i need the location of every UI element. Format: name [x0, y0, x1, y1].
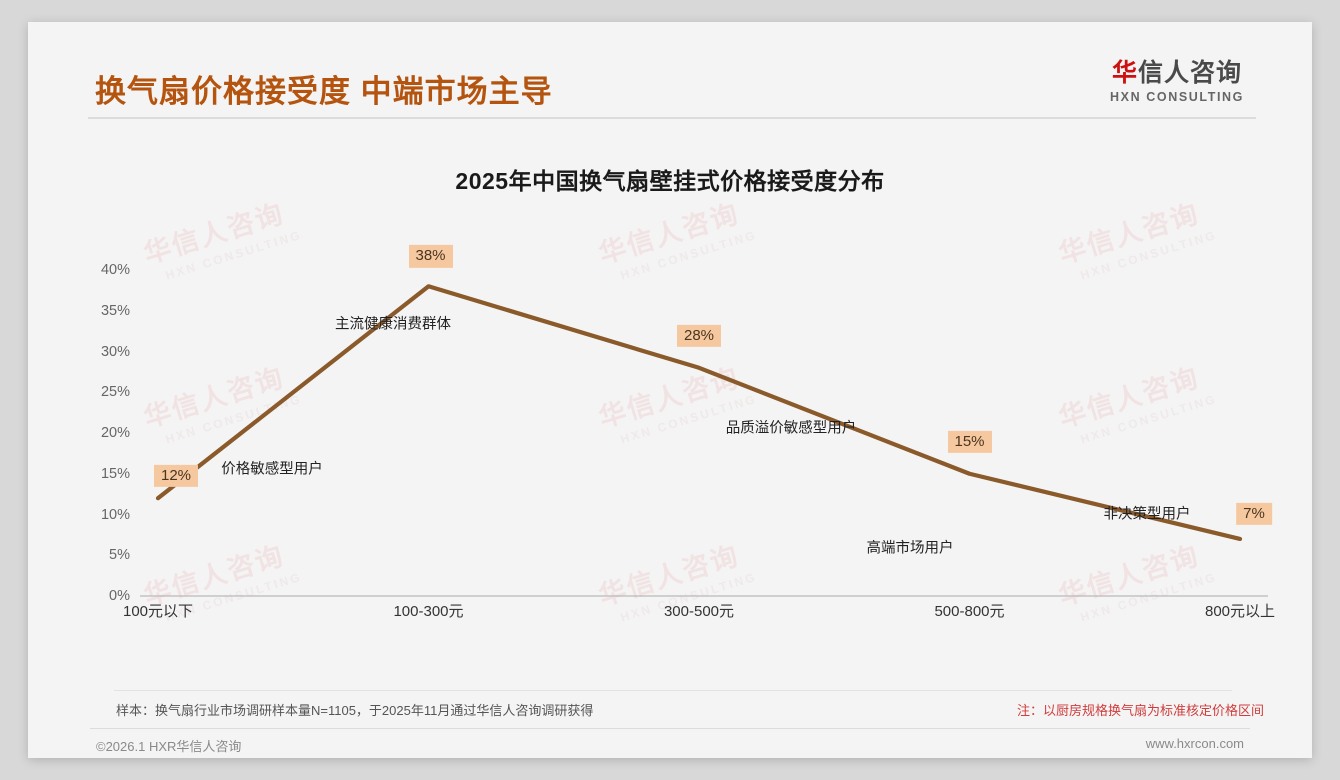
methodology-note: 注：以厨房规格换气扇为标准核定价格区间: [1017, 700, 1264, 719]
company-logo: 华信人咨询 HXN CONSULTING: [1087, 60, 1267, 104]
watermark: 华信人咨询 HXN CONSULTING: [138, 188, 303, 286]
watermark: 华信人咨询 HXN CONSULTING: [1053, 530, 1218, 628]
watermark-english: HXN CONSULTING: [1079, 570, 1219, 625]
logo-english-text: HXN CONSULTING: [1087, 90, 1267, 104]
watermark-english: HXN CONSULTING: [619, 392, 759, 447]
watermark: 华信人咨询 HXN CONSULTING: [138, 530, 303, 628]
data-series-line: [158, 286, 1240, 539]
data-point-annotation: 高端市场用户: [867, 537, 954, 558]
watermark: 华信人咨询 HXN CONSULTING: [593, 352, 758, 450]
watermark-english: HXN CONSULTING: [1079, 392, 1219, 447]
x-axis-tick-label: 100-300元: [393, 600, 463, 621]
watermark-english: HXN CONSULTING: [164, 228, 304, 283]
x-axis-tick-label: 800元以上: [1205, 600, 1275, 621]
watermark-chinese: 华信人咨询: [138, 352, 299, 435]
y-axis-tick-label: 20%: [72, 425, 130, 441]
y-axis-tick-label: 10%: [72, 507, 130, 523]
website-link[interactable]: www.hxrcon.com: [1146, 736, 1244, 751]
slide-canvas: 换气扇价格接受度 中端市场主导 华信人咨询 HXN CONSULTING 华信人…: [28, 22, 1312, 758]
footer-divider: [114, 690, 1232, 691]
x-axis-tick-label: 500-800元: [934, 600, 1004, 621]
y-axis-tick-label: 40%: [72, 262, 130, 278]
watermark-chinese: 华信人咨询: [593, 352, 754, 435]
watermark: 华信人咨询 HXN CONSULTING: [1053, 188, 1218, 286]
y-axis-tick-label: 25%: [72, 384, 130, 400]
watermark-chinese: 华信人咨询: [1053, 530, 1214, 613]
y-axis-tick-label: 35%: [72, 303, 130, 319]
watermark-chinese: 华信人咨询: [593, 188, 754, 271]
watermark-chinese: 华信人咨询: [1053, 352, 1214, 435]
sample-note: 样本：换气扇行业市场调研样本量N=1105，于2025年11月通过华信人咨询调研…: [116, 700, 593, 719]
watermark-english: HXN CONSULTING: [619, 570, 759, 625]
bottom-divider: [90, 728, 1250, 729]
data-point-value-label: 12%: [154, 465, 198, 487]
watermark: 华信人咨询 HXN CONSULTING: [593, 188, 758, 286]
watermark: 华信人咨询 HXN CONSULTING: [138, 352, 303, 450]
data-point-annotation: 价格敏感型用户: [221, 458, 323, 479]
data-point-value-label: 38%: [408, 245, 452, 267]
slide-header: 换气扇价格接受度 中端市场主导 华信人咨询 HXN CONSULTING: [28, 22, 1312, 118]
data-point-value-label: 28%: [677, 325, 721, 347]
chart-plot-area: 0%5%10%15%20%25%30%35%40%100元以下100-300元3…: [28, 22, 1312, 758]
header-divider: [88, 117, 1256, 119]
y-axis-tick-label: 30%: [72, 344, 130, 360]
watermark-chinese: 华信人咨询: [593, 530, 754, 613]
logo-chinese-text: 华信人咨询: [1087, 60, 1267, 86]
page-title: 换气扇价格接受度 中端市场主导: [95, 66, 553, 111]
watermark-english: HXN CONSULTING: [164, 392, 304, 447]
y-axis-tick-label: 15%: [72, 466, 130, 482]
chart-title: 2025年中国换气扇壁挂式价格接受度分布: [28, 162, 1312, 196]
y-axis-tick-label: 0%: [72, 588, 130, 604]
x-axis-tick-label: 300-500元: [664, 600, 734, 621]
watermark-english: HXN CONSULTING: [619, 228, 759, 283]
line-chart-svg: [28, 22, 1312, 758]
copyright-text: ©2026.1 HXR华信人咨询: [96, 736, 241, 755]
watermark-chinese: 华信人咨询: [138, 188, 299, 271]
data-point-annotation: 品质溢价敏感型用户: [726, 417, 857, 438]
watermark-english: HXN CONSULTING: [164, 570, 304, 625]
x-axis-tick-label: 100元以下: [123, 600, 193, 621]
logo-accent-char: 华: [1112, 59, 1138, 87]
data-point-annotation: 非决策型用户: [1104, 503, 1191, 524]
watermark-english: HXN CONSULTING: [1079, 228, 1219, 283]
data-point-value-label: 7%: [1236, 503, 1272, 525]
logo-rest-chars: 信人咨询: [1138, 59, 1242, 87]
data-point-value-label: 15%: [947, 431, 991, 453]
data-point-annotation: 主流健康消费群体: [335, 313, 451, 334]
watermark: 华信人咨询 HXN CONSULTING: [593, 530, 758, 628]
watermark-chinese: 华信人咨询: [138, 530, 299, 613]
watermark: 华信人咨询 HXN CONSULTING: [1053, 352, 1218, 450]
watermark-chinese: 华信人咨询: [1053, 188, 1214, 271]
y-axis-tick-label: 5%: [72, 547, 130, 563]
